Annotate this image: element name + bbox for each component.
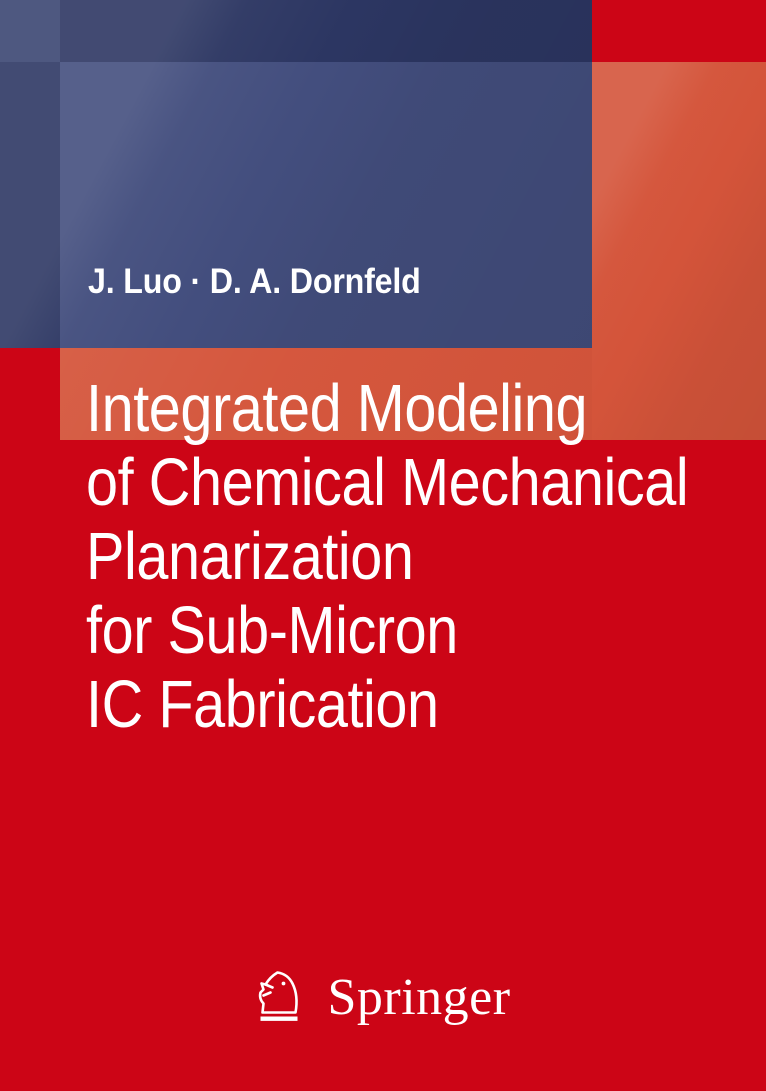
title-line-2: of Chemical Mechanical <box>86 446 654 520</box>
title-line-4: for Sub-Micron <box>86 594 654 668</box>
book-cover: J. Luo · D. A. Dornfeld Integrated Model… <box>0 0 766 1091</box>
title-line-3: Planarization <box>86 520 654 594</box>
blue-panel-left-block <box>0 62 60 348</box>
red-corner-block <box>592 0 766 62</box>
title-line-5: IC Fabrication <box>86 668 654 742</box>
author-line: J. Luo · D. A. Dornfeld <box>88 264 530 299</box>
book-title: Integrated Modeling of Chemical Mechanic… <box>86 372 746 742</box>
publisher-logo: Springer <box>0 968 766 1028</box>
blue-panel-main-block <box>60 62 592 348</box>
publisher-name: Springer <box>327 972 510 1024</box>
blue-panel-corner-block <box>0 0 60 62</box>
springer-knight-icon <box>255 968 309 1028</box>
blue-panel-top-block <box>60 0 592 62</box>
title-line-1: Integrated Modeling <box>86 372 654 446</box>
